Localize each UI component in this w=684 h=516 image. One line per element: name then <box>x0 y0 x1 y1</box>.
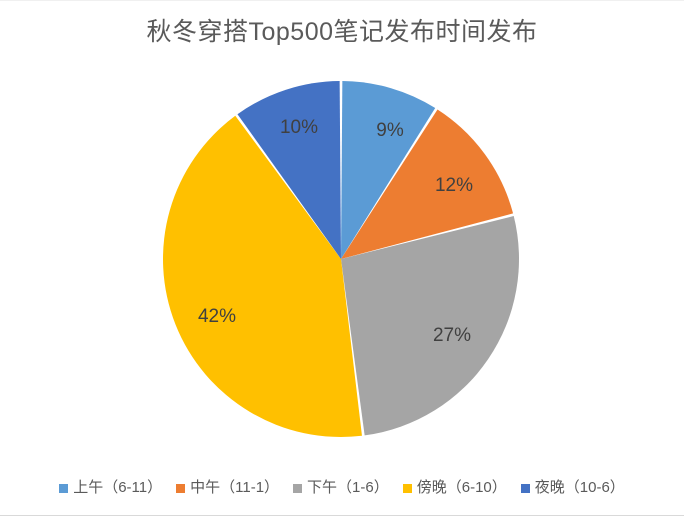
legend-item-label: 上午（6-11） <box>73 479 162 497</box>
legend-item[interactable]: 上午（6-11） <box>59 479 162 497</box>
pie-plot-area: 9%12%27%42%10% <box>0 1 684 471</box>
legend-swatch-icon <box>403 484 412 493</box>
legend-item[interactable]: 下午（1-6） <box>293 479 389 497</box>
legend-item[interactable]: 傍晚（6-10） <box>403 479 507 497</box>
legend-swatch-icon <box>521 484 530 493</box>
legend-item-label: 夜晚（10-6） <box>535 479 625 497</box>
legend-item[interactable]: 夜晚（10-6） <box>521 479 625 497</box>
pie-slice-group <box>163 81 519 437</box>
pie-chart-figure: 秋冬穿搭Top500笔记发布时间发布 9%12%27%42%10% 上午（6-1… <box>0 0 684 516</box>
pie-svg <box>0 1 684 471</box>
legend-item-label: 下午（1-6） <box>307 479 389 497</box>
legend-swatch-icon <box>59 484 68 493</box>
legend-swatch-icon <box>176 484 185 493</box>
legend-item[interactable]: 中午（11-1） <box>176 479 279 497</box>
legend-item-label: 中午（11-1） <box>190 479 279 497</box>
legend-item-label: 傍晚（6-10） <box>417 479 507 497</box>
chart-legend: 上午（6-11）中午（11-1）下午（1-6）傍晚（6-10）夜晚（10-6） <box>0 479 684 497</box>
legend-swatch-icon <box>293 484 302 493</box>
